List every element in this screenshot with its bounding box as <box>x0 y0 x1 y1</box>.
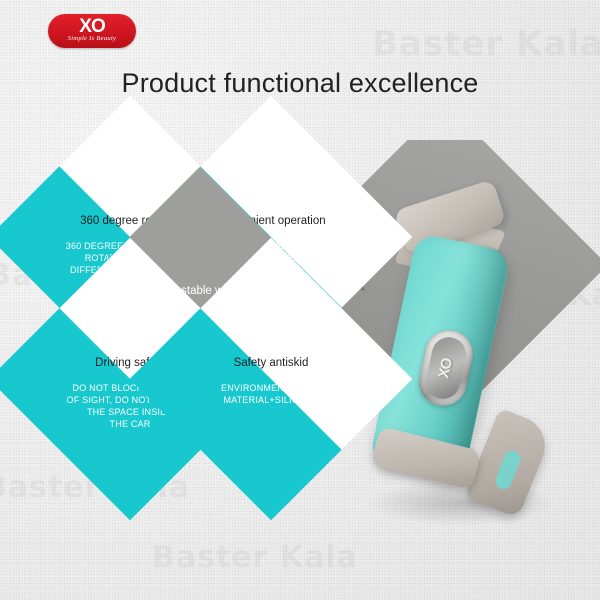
product-infographic-page: Baster Kala Baster Kala Baster Kala Bast… <box>0 0 600 600</box>
feature-cell-antiskid[interactable]: Safety antiskid ENVIRONMENTAL ABSMATERIA… <box>171 279 371 479</box>
feature-diamond-grid: 360 degree rotation 360 DEGREES OF FREED… <box>0 0 600 600</box>
diamond-shape <box>130 238 413 521</box>
